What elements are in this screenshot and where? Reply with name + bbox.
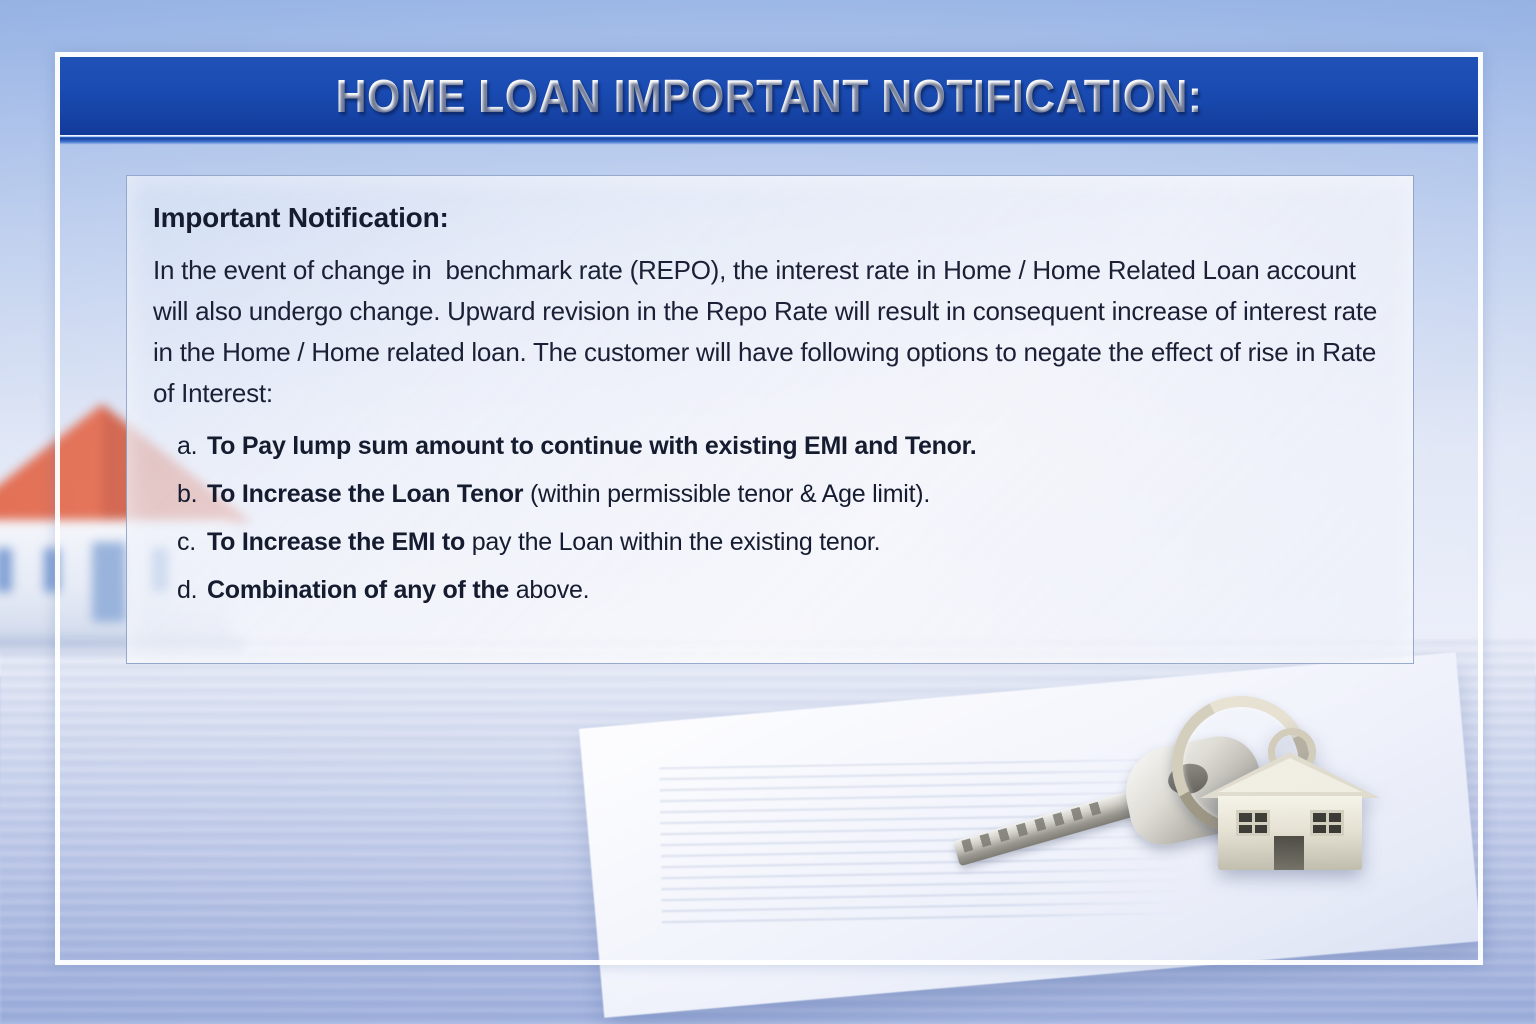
list-item-normal-text: pay the Loan within the existing tenor. [472, 528, 881, 556]
title-banner: HOME LOAN IMPORTANT NOTIFICATION: [60, 57, 1478, 135]
list-item-normal-text: above. [516, 576, 590, 604]
list-item: b. To Increase the Loan Tenor (within pe… [153, 480, 1381, 509]
list-item-marker: d. [153, 576, 207, 605]
slide-root: HOME LOAN IMPORTANT NOTIFICATION: Import… [0, 0, 1536, 1024]
list-item-marker: c. [153, 528, 207, 557]
list-item-bold-text: To Pay lump sum amount to continue with … [207, 432, 976, 460]
list-item: a. To Pay lump sum amount to continue wi… [153, 432, 1381, 461]
list-item-bold-text: To Increase the EMI to [207, 528, 472, 556]
options-list: a. To Pay lump sum amount to continue wi… [153, 432, 1381, 605]
page-title: HOME LOAN IMPORTANT NOTIFICATION: [336, 69, 1203, 123]
list-item: d. Combination of any of the above. [153, 576, 1381, 605]
list-item-marker: b. [153, 480, 207, 509]
list-item-bold-text: To Increase the Loan Tenor [207, 480, 530, 508]
list-item: c. To Increase the EMI to pay the Loan w… [153, 528, 1381, 557]
list-item-marker: a. [153, 432, 207, 461]
notification-paragraph: In the event of change in benchmark rate… [153, 250, 1381, 414]
list-item-normal-text: (within permissible tenor & Age limit). [530, 480, 930, 508]
list-item-bold-text: Combination of any of the [207, 576, 516, 604]
notification-panel: Important Notification: In the event of … [126, 175, 1414, 664]
banner-accent-line-secondary [60, 139, 1478, 145]
notification-heading: Important Notification: [153, 202, 1381, 234]
